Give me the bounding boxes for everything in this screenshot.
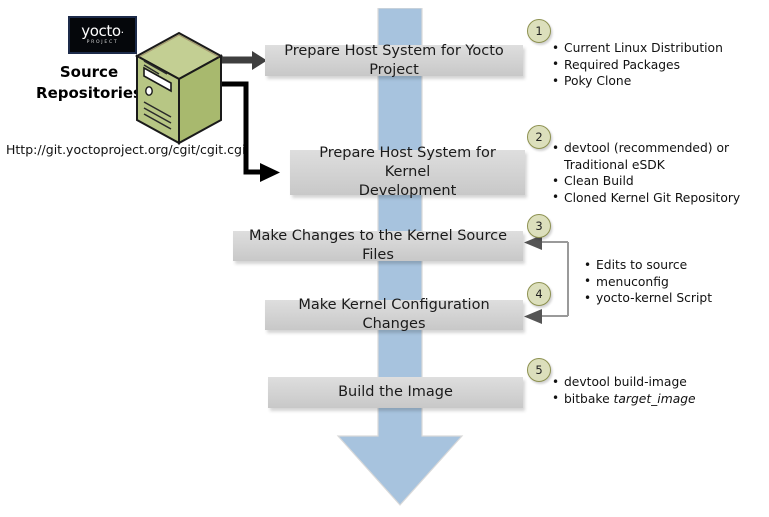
yocto-logo-dot: · [121, 26, 124, 39]
list-item: Edits to source [584, 257, 712, 274]
list-item-italic-target: target_image [614, 392, 696, 406]
process-box-make-kernel-source-changes[interactable]: Make Changes to the Kernel Source Files [233, 231, 523, 261]
list-item: yocto-kernel Script [584, 290, 712, 307]
step-badge-3: 3 [527, 214, 551, 238]
step-badge-1: 1 [527, 19, 551, 43]
step-badge-2: 2 [527, 125, 551, 149]
list-item-text: devtool (recommended) or [564, 141, 729, 155]
list-item: devtool build-image [552, 374, 696, 391]
source-repositories-label: Source Repositories [30, 62, 148, 104]
box3-label: Make Changes to the Kernel Source Files [241, 227, 515, 265]
box2-label-line-1: Prepare Host System for Kernel [319, 145, 496, 180]
list-item: Cloned Kernel Git Repository [552, 190, 740, 207]
box2-label-line-2: Development [359, 183, 457, 199]
step-badge-3-number: 3 [535, 219, 542, 233]
list-item-continuation: Traditional eSDK [564, 157, 740, 174]
step-1-bullet-list: Current Linux Distribution Required Pack… [552, 40, 723, 90]
steps-3-4-bullet-list: Edits to source menuconfig yocto-kernel … [584, 257, 712, 307]
yocto-logo-wordmark: yocto· [81, 24, 123, 39]
process-box-prepare-host-yocto[interactable]: Prepare Host System for Yocto Project [265, 45, 523, 76]
list-item: Required Packages [552, 57, 723, 74]
list-item: devtool (recommended) or Traditional eSD… [552, 140, 740, 173]
list-item: bitbake target_image [552, 391, 696, 408]
process-box-build-the-image[interactable]: Build the Image [268, 377, 523, 408]
yocto-logo-text: yocto [81, 22, 120, 40]
box4-label: Make Kernel Configuration Changes [273, 296, 515, 334]
process-box-make-kernel-config-changes[interactable]: Make Kernel Configuration Changes [265, 300, 523, 330]
box5-label: Build the Image [338, 383, 453, 402]
step-badge-5: 5 [527, 358, 551, 382]
list-item: Poky Clone [552, 73, 723, 90]
list-item: Current Linux Distribution [552, 40, 723, 57]
list-item: menuconfig [584, 274, 712, 291]
server-icon [133, 30, 225, 146]
list-item-text: bitbake [564, 392, 614, 406]
step-5-bullet-list: devtool build-image bitbake target_image [552, 374, 696, 407]
step-badge-4: 4 [527, 282, 551, 306]
box1-label: Prepare Host System for Yocto Project [273, 42, 515, 80]
step-badge-5-number: 5 [535, 363, 542, 377]
step-badge-4-number: 4 [535, 287, 542, 301]
yocto-logo-subtext: PROJECT [87, 41, 119, 46]
list-item: Clean Build [552, 173, 740, 190]
step-2-bullet-list: devtool (recommended) or Traditional eSD… [552, 140, 740, 206]
diagram-canvas: yocto· PROJECT Source Repositories Http:… [0, 0, 769, 517]
process-box-prepare-host-kernel[interactable]: Prepare Host System for Kernel Developme… [290, 150, 525, 195]
yocto-project-logo: yocto· PROJECT [68, 16, 137, 54]
source-label-line-2: Repositories [30, 83, 148, 104]
step-badge-2-number: 2 [535, 130, 542, 144]
step-badge-1-number: 1 [535, 24, 542, 38]
box2-label: Prepare Host System for Kernel Developme… [298, 144, 517, 201]
source-label-line-1: Source [30, 62, 148, 83]
